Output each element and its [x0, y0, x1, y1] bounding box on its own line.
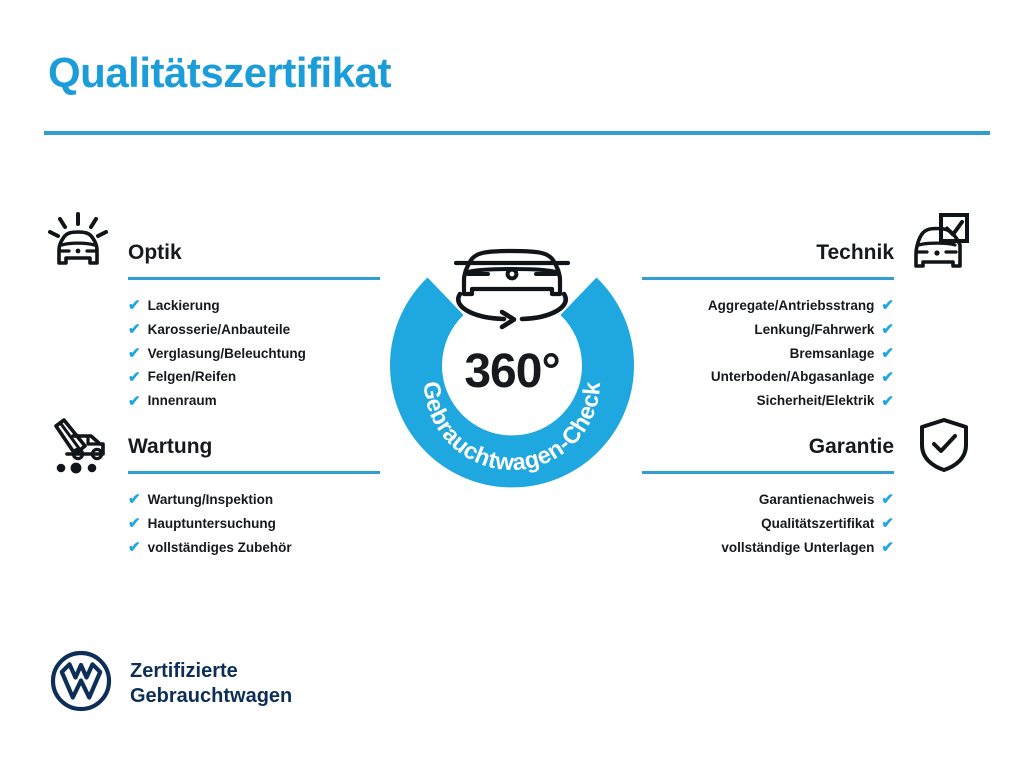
list-item: Lenkung/Fahrwerk ✔: [642, 318, 894, 342]
check-icon: ✔: [128, 516, 141, 531]
list-item: Aggregate/Antriebsstrang ✔: [642, 294, 894, 318]
vw-logo: [50, 650, 112, 717]
list-item-label: Felgen/Reifen: [148, 365, 237, 389]
checklist-technik: Aggregate/Antriebsstrang ✔ Lenkung/Fahrw…: [642, 294, 894, 413]
list-item-label: vollständige Unterlagen: [721, 536, 874, 560]
check-icon: ✔: [128, 540, 141, 555]
list-item: Garantienachweis ✔: [642, 488, 894, 512]
footer-line-1: Zertifizierte: [130, 660, 238, 682]
list-item-label: Lackierung: [148, 294, 220, 318]
list-item: vollständige Unterlagen ✔: [642, 536, 894, 560]
pencil-car-service-icon: [47, 416, 109, 483]
section-rule: [128, 471, 380, 474]
list-item: ✔ Verglasung/Beleuchtung: [128, 342, 380, 366]
check-icon: ✔: [881, 298, 894, 313]
list-item-label: Karosserie/Anbauteile: [148, 318, 291, 342]
check-icon: ✔: [128, 370, 141, 385]
check-icon: ✔: [881, 492, 894, 507]
list-item-label: Wartung/Inspektion: [148, 488, 274, 512]
car-checkbox-icon: [908, 211, 970, 278]
footer-wordmark: ZertifizierteGebrauchtwagen: [130, 659, 292, 709]
section-technik: Technik Aggregate/Antriebsstrang ✔ Lenku…: [642, 240, 894, 413]
section-optik: Optik ✔ Lackierung ✔ Karosserie/Anbautei…: [128, 240, 380, 413]
list-item-label: Lenkung/Fahrwerk: [754, 318, 874, 342]
list-item: ✔ vollständiges Zubehör: [128, 536, 380, 560]
checklist-garantie: Garantienachweis ✔ Qualitätszertifikat ✔…: [642, 488, 894, 559]
list-item-label: Innenraum: [148, 389, 217, 413]
checklist-optik: ✔ Lackierung ✔ Karosserie/Anbauteile ✔ V…: [128, 294, 380, 413]
check-icon: ✔: [128, 322, 141, 337]
check-icon: ✔: [128, 492, 141, 507]
list-item-label: Qualitätszertifikat: [761, 512, 874, 536]
list-item-label: Verglasung/Beleuchtung: [148, 342, 306, 366]
section-header: Wartung: [128, 434, 380, 474]
footer-line-2: Gebrauchtwagen: [130, 685, 292, 707]
list-item-label: Aggregate/Antriebsstrang: [708, 294, 875, 318]
list-item: ✔ Wartung/Inspektion: [128, 488, 380, 512]
section-rule: [128, 277, 380, 280]
check-icon: ✔: [128, 346, 141, 361]
title-divider: [44, 131, 990, 135]
check-icon: ✔: [881, 394, 894, 409]
list-item-label: Garantienachweis: [759, 488, 875, 512]
list-item: ✔ Innenraum: [128, 389, 380, 413]
badge-360-gebrauchtwagen-check: Gebrauchtwagen-Check 360°: [373, 196, 651, 496]
section-header: Optik: [128, 240, 380, 280]
section-title: Wartung: [128, 434, 380, 460]
footer-brand-lockup: ZertifizierteGebrauchtwagen: [50, 650, 292, 717]
list-item: ✔ Felgen/Reifen: [128, 365, 380, 389]
badge-value: 360°: [373, 344, 651, 399]
check-icon: ✔: [881, 346, 894, 361]
section-header: Garantie: [642, 434, 894, 474]
car-front-shine-icon: [47, 211, 109, 278]
section-garantie: Garantie Garantienachweis ✔ Qualitätszer…: [642, 434, 894, 559]
section-wartung: Wartung ✔ Wartung/Inspektion ✔ Hauptunte…: [128, 434, 380, 559]
check-icon: ✔: [881, 540, 894, 555]
list-item: Bremsanlage ✔: [642, 342, 894, 366]
list-item: Sicherheit/Elektrik ✔: [642, 389, 894, 413]
list-item: Qualitätszertifikat ✔: [642, 512, 894, 536]
check-icon: ✔: [128, 298, 141, 313]
section-header: Technik: [642, 240, 894, 280]
list-item-label: Hauptuntersuchung: [148, 512, 276, 536]
list-item-label: Sicherheit/Elektrik: [757, 389, 875, 413]
check-icon: ✔: [881, 322, 894, 337]
section-title: Optik: [128, 240, 380, 266]
list-item: Unterboden/Abgasanlage ✔: [642, 365, 894, 389]
list-item: ✔ Karosserie/Anbauteile: [128, 318, 380, 342]
list-item: ✔ Lackierung: [128, 294, 380, 318]
checklist-wartung: ✔ Wartung/Inspektion ✔ Hauptuntersuchung…: [128, 488, 380, 559]
check-icon: ✔: [128, 394, 141, 409]
list-item-label: vollständiges Zubehör: [148, 536, 292, 560]
list-item-label: Bremsanlage: [790, 342, 875, 366]
section-title: Technik: [642, 240, 894, 266]
check-icon: ✔: [881, 516, 894, 531]
section-rule: [642, 277, 894, 280]
check-icon: ✔: [881, 370, 894, 385]
list-item: ✔ Hauptuntersuchung: [128, 512, 380, 536]
list-item-label: Unterboden/Abgasanlage: [711, 365, 875, 389]
shield-check-icon: [918, 417, 970, 478]
page-title: Qualitätszertifikat: [48, 50, 391, 96]
section-rule: [642, 471, 894, 474]
section-title: Garantie: [642, 434, 894, 460]
